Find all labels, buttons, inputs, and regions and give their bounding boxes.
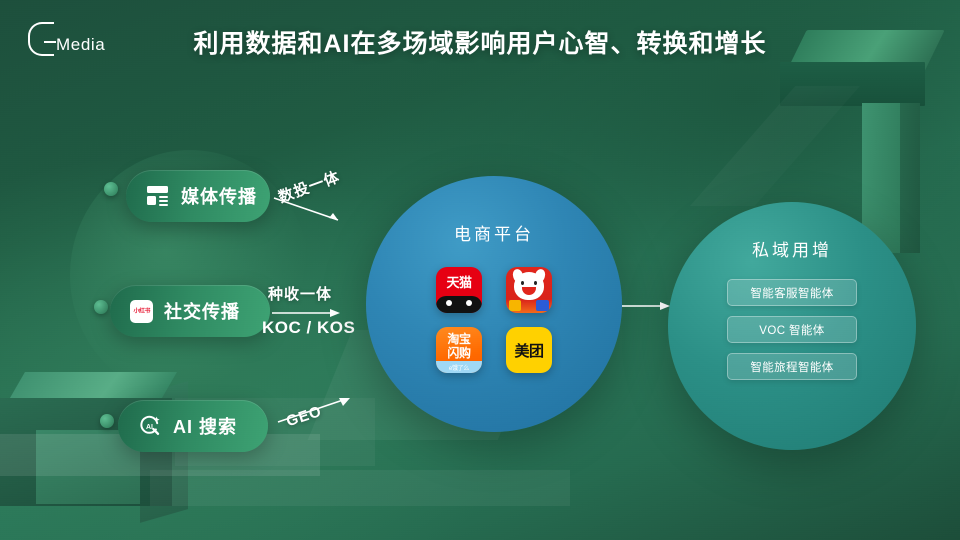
app-icon-tmall[interactable]: 天猫 <box>436 267 482 313</box>
bullet-dot-ai <box>100 414 114 428</box>
app-icon-jd[interactable] <box>506 267 552 313</box>
decorative-shape-seven-stem-shadow <box>898 103 920 253</box>
bullet-dot-social <box>94 300 108 314</box>
channel-pill-media[interactable]: 媒体传播 <box>126 170 270 222</box>
ai-search-sparkle-icon: AI <box>138 414 162 438</box>
app-icon-meituan-label: 美团 <box>514 340 543 361</box>
arrow-media-to-ecommerce <box>272 196 350 224</box>
media-broadcast-icon <box>146 184 170 208</box>
channel-pill-social-label: 社交传播 <box>164 298 240 324</box>
ecommerce-app-grid: 天猫 淘宝 闪购 e饿了么 美团 <box>436 267 552 373</box>
app-icon-taobao-shangou-band: e饿了么 <box>449 363 469 372</box>
private-domain-title: 私域用增 <box>752 236 832 261</box>
annotation-social-arrow-label: 种收一体 <box>268 283 332 304</box>
arrow-ai-to-ecommerce <box>274 395 356 425</box>
decorative-diagonal-band <box>690 86 860 206</box>
private-domain-chip[interactable]: VOC 智能体 <box>727 316 857 343</box>
channel-pill-ai-search[interactable]: AI AI 搜索 <box>118 400 268 452</box>
decorative-band-two <box>150 470 570 506</box>
slide-canvas: Media 利用数据和AI在多场域影响用户心智、转换和增长 媒体传播 小红书 社… <box>0 0 960 540</box>
private-domain-chip[interactable]: 智能旅程智能体 <box>727 353 857 380</box>
app-icon-taobao-shangou-line2: 闪购 <box>436 344 482 361</box>
page-title: 利用数据和AI在多场域影响用户心智、转换和增长 <box>0 24 960 60</box>
ecommerce-platform-bubble[interactable]: 电商平台 天猫 淘宝 闪购 e饿了么 美团 <box>366 176 622 432</box>
ecommerce-platform-title: 电商平台 <box>454 220 534 245</box>
annotation-social-arrow-sublabel: KOC / KOS <box>262 318 355 338</box>
app-icon-meituan[interactable]: 美团 <box>506 327 552 373</box>
private-domain-bubble[interactable]: 私域用增 智能客服智能体 VOC 智能体 智能旅程智能体 <box>668 202 916 450</box>
private-domain-chip-list: 智能客服智能体 VOC 智能体 智能旅程智能体 <box>727 279 857 380</box>
svg-text:AI: AI <box>146 424 153 431</box>
channel-pill-social[interactable]: 小红书 社交传播 <box>110 285 270 337</box>
app-icon-taobao-shangou[interactable]: 淘宝 闪购 e饿了么 <box>436 327 482 373</box>
xiaohongshu-icon: 小红书 <box>130 300 153 323</box>
xiaohongshu-icon-label: 小红书 <box>133 307 150 316</box>
bullet-dot-media <box>104 182 118 196</box>
private-domain-chip[interactable]: 智能客服智能体 <box>727 279 857 306</box>
app-icon-tmall-label: 天猫 <box>436 272 482 291</box>
channel-pill-ai-search-label: AI 搜索 <box>173 413 237 439</box>
channel-pill-media-label: 媒体传播 <box>181 183 257 209</box>
decorative-shape-seven-face <box>780 62 925 106</box>
